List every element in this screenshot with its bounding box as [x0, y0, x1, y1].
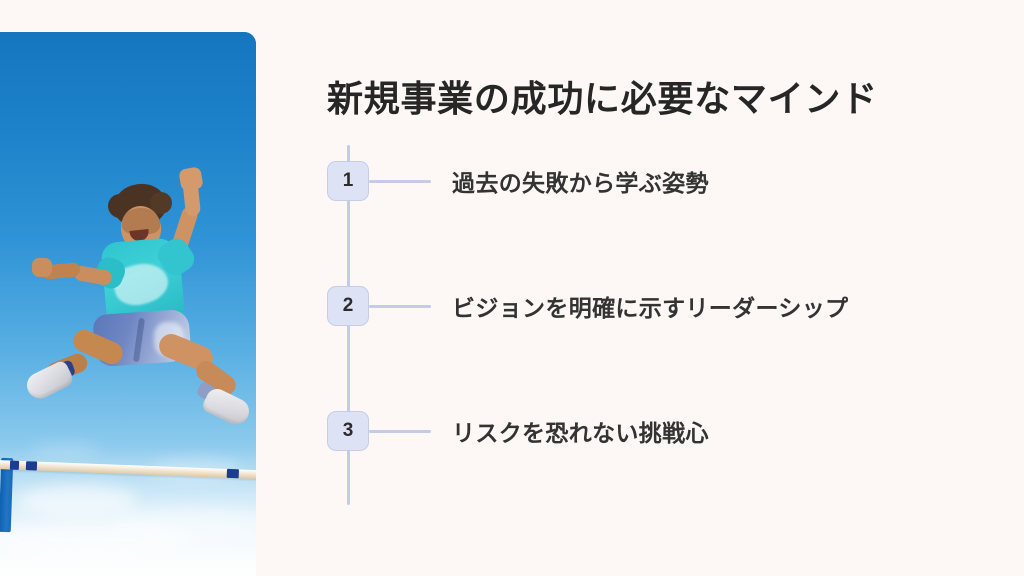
- bar-marker: [26, 461, 37, 470]
- timeline-connector-1: [369, 180, 431, 183]
- left-shoe-shape: [23, 359, 76, 403]
- timeline-connector-3: [369, 430, 431, 433]
- numbered-timeline: 1 過去の失敗から学ぶ姿勢 2 ビジョンを明確に示すリーダーシップ 3 リスクを…: [327, 145, 987, 507]
- athlete-figure: [18, 172, 248, 440]
- bar-marker: [10, 461, 19, 470]
- timeline-connector-2: [369, 305, 431, 308]
- step-number-badge-2: 2: [327, 286, 369, 326]
- cloud-shape: [18, 484, 138, 518]
- slide-root: 新規事業の成功に必要なマインド 1 過去の失敗から学ぶ姿勢 2 ビジョンを明確に…: [0, 0, 1024, 576]
- timeline-item-3[interactable]: 3 リスクを恐れない挑戦心: [327, 411, 709, 451]
- left-fist-shape: [32, 258, 52, 277]
- step-number-badge-3: 3: [327, 411, 369, 451]
- timeline-label-2: ビジョンを明確に示すリーダーシップ: [452, 289, 848, 323]
- content-column: 新規事業の成功に必要なマインド 1 過去の失敗から学ぶ姿勢 2 ビジョンを明確に…: [327, 0, 987, 576]
- right-shoe-shape: [201, 385, 254, 429]
- bar-marker: [227, 469, 239, 478]
- timeline-item-1[interactable]: 1 過去の失敗から学ぶ姿勢: [327, 161, 709, 201]
- step-number-badge-1: 1: [327, 161, 369, 201]
- timeline-item-2[interactable]: 2 ビジョンを明確に示すリーダーシップ: [327, 286, 848, 326]
- timeline-label-1: 過去の失敗から学ぶ姿勢: [452, 164, 709, 198]
- timeline-label-3: リスクを恐れない挑戦心: [452, 414, 709, 448]
- hero-photo: [0, 32, 256, 576]
- raised-fist-shape: [178, 166, 203, 191]
- slide-title: 新規事業の成功に必要なマインド: [327, 70, 878, 122]
